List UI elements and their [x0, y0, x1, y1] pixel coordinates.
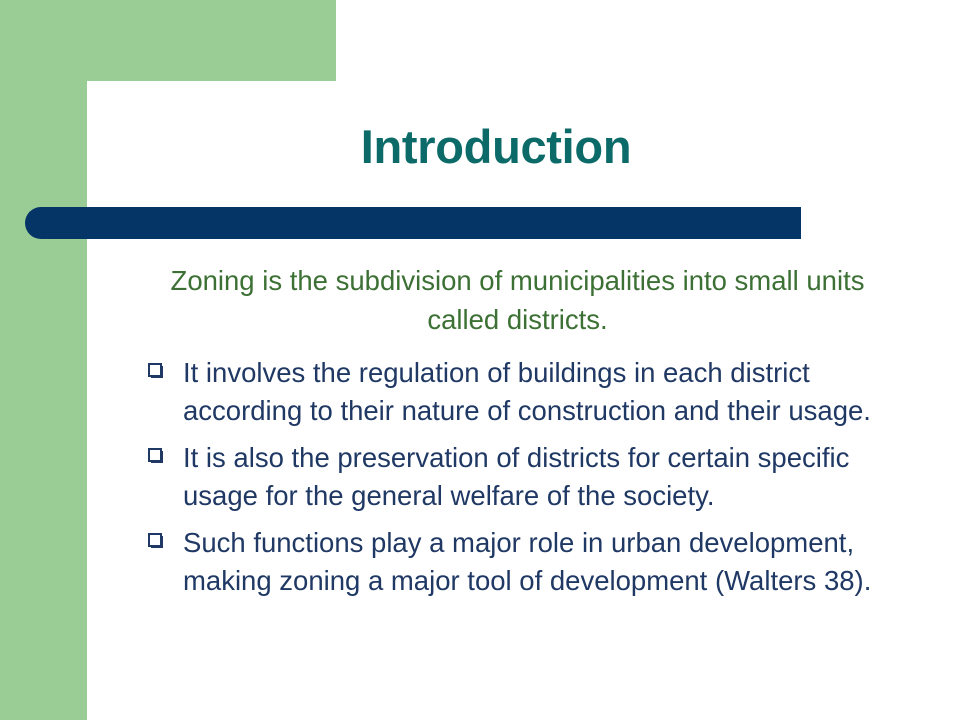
lead-paragraph: Zoning is the subdivision of municipalit… [145, 261, 890, 340]
slide-title: Introduction [87, 122, 905, 171]
slide-body: Zoning is the subdivision of municipalit… [145, 261, 890, 601]
bullet-list: It involves the regulation of buildings … [145, 354, 890, 601]
hollow-square-bullet-icon [148, 533, 163, 548]
hollow-square-bullet-icon [148, 448, 163, 463]
bullet-item: It is also the preservation of districts… [145, 439, 890, 516]
presentation-slide: Introduction Zoning is the subdivision o… [0, 0, 960, 720]
bullet-item: Such functions play a major role in urba… [145, 524, 890, 601]
bullet-item: It involves the regulation of buildings … [145, 354, 890, 431]
hollow-square-bullet-icon [148, 363, 163, 378]
bullet-item-text: It involves the regulation of buildings … [183, 357, 871, 427]
bullet-item-text: It is also the preservation of districts… [183, 442, 849, 512]
slide-content: Introduction Zoning is the subdivision o… [0, 0, 960, 720]
bullet-item-text: Such functions play a major role in urba… [183, 527, 871, 597]
